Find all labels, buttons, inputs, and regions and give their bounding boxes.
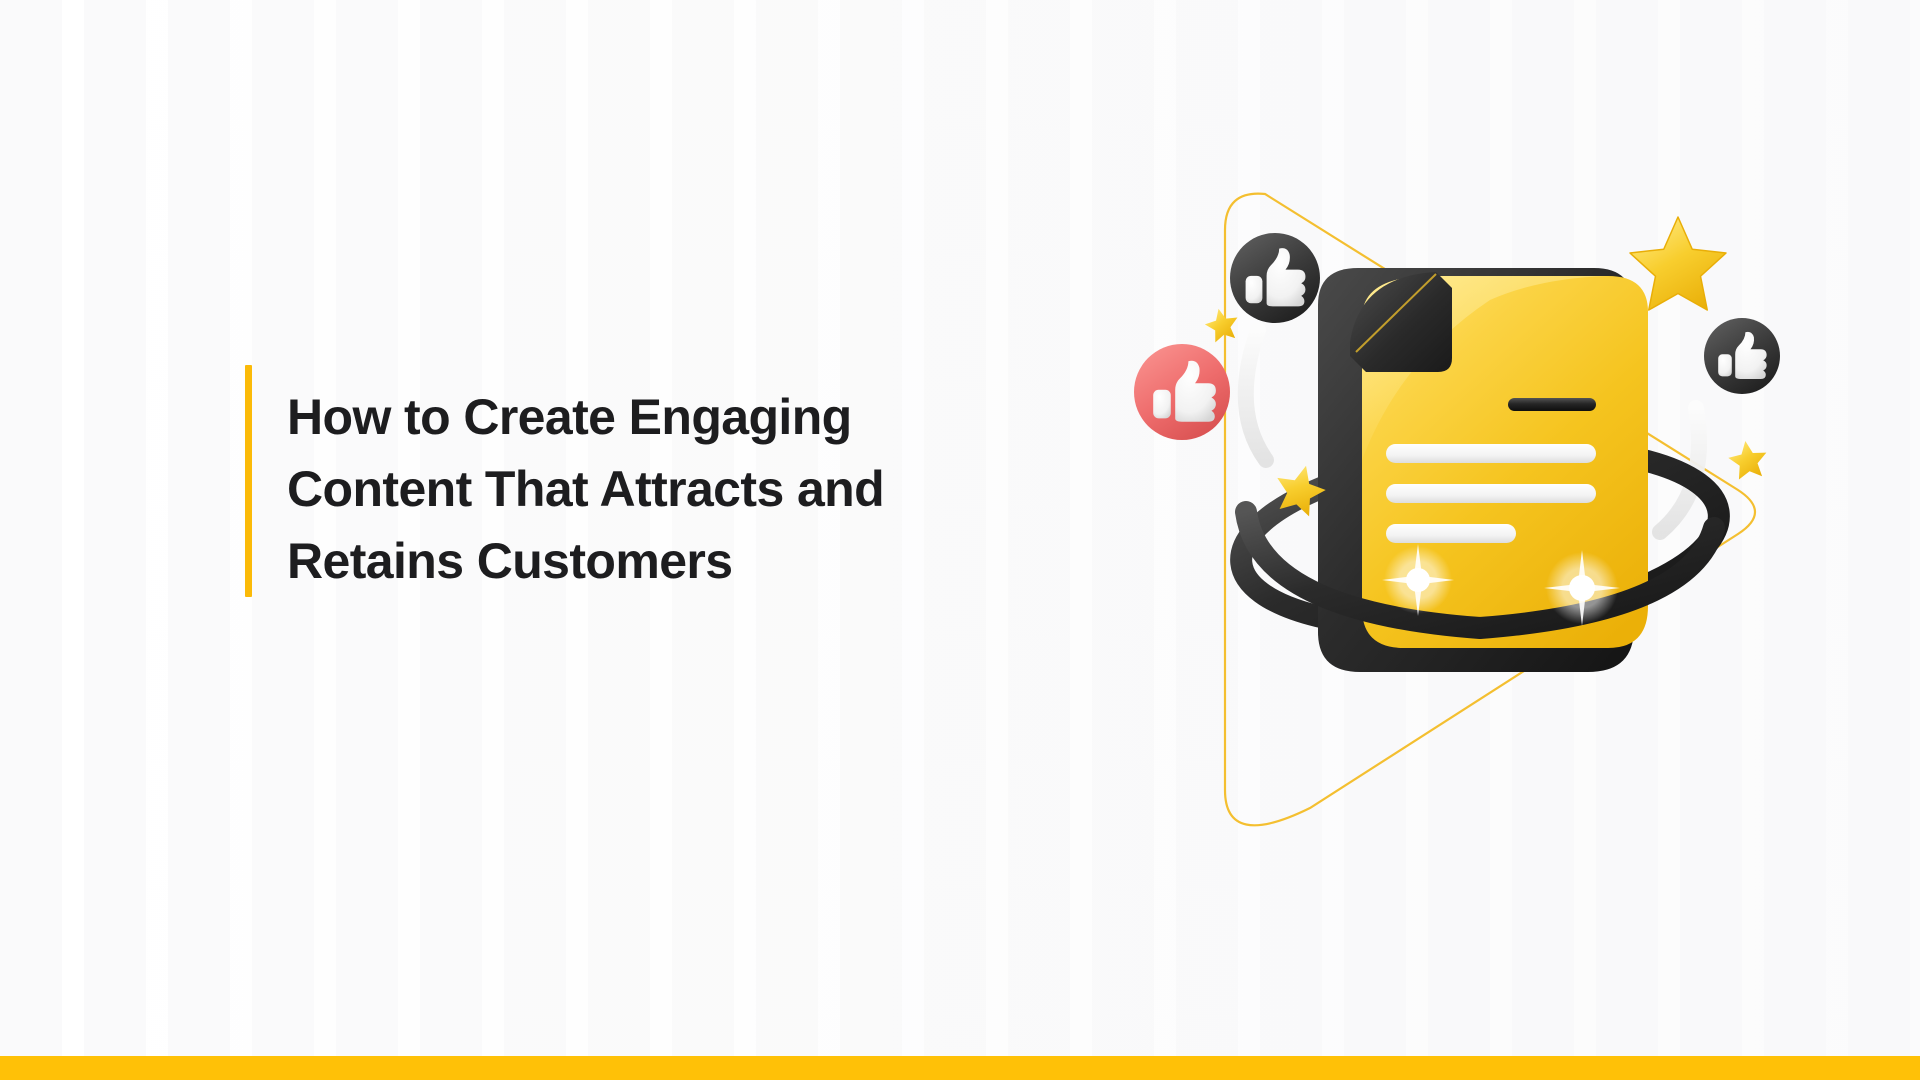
accent-bar	[245, 365, 252, 597]
headline-text-wrapper: How to Create Engaging Content That Attr…	[252, 365, 884, 597]
hero-banner-canvas: How to Create Engaging Content That Attr…	[0, 0, 1920, 1080]
thumbs-up-badge-red	[1134, 344, 1230, 440]
document-dark-dash	[1508, 398, 1596, 411]
arc-white-left	[1246, 330, 1266, 460]
document-text-line-2	[1386, 484, 1596, 503]
headline-block: How to Create Engaging Content That Attr…	[245, 365, 1065, 597]
document-text-line-3	[1386, 524, 1516, 543]
bottom-accent-band	[0, 1056, 1920, 1080]
star-small-right	[1726, 438, 1769, 480]
star-small-left	[1202, 305, 1241, 343]
thumbs-up-badge-dark-top	[1230, 233, 1320, 323]
document-text-line-1	[1386, 444, 1596, 463]
page-title: How to Create Engaging Content That Attr…	[287, 381, 884, 597]
thumbs-up-badge-dark-right	[1704, 318, 1780, 394]
engaging-content-illustration	[1190, 160, 1830, 860]
